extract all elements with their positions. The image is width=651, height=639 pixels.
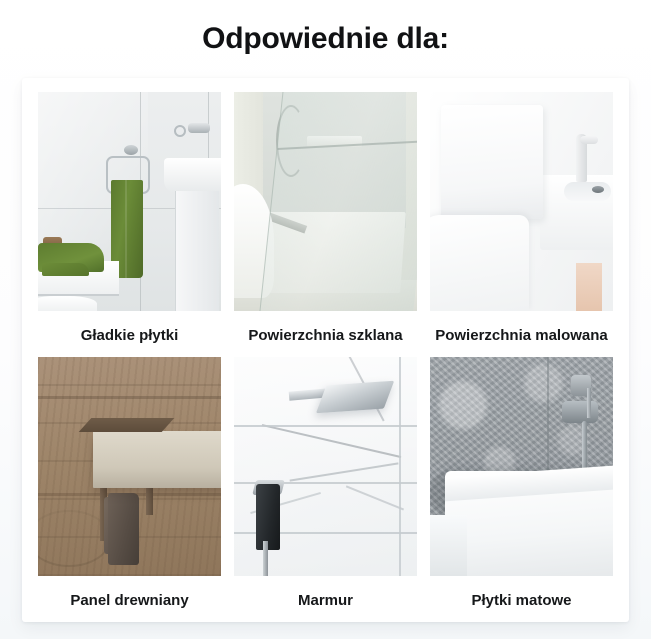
grid-row: Gładkie płytki bbox=[38, 92, 613, 351]
wood-panel-image bbox=[38, 357, 221, 576]
surface-item-wood-panel[interactable]: Panel drewniany bbox=[38, 357, 221, 616]
surface-thumbnail-matte-tiles[interactable] bbox=[430, 357, 613, 576]
surface-item-matte-tiles[interactable]: Płytki matowe bbox=[430, 357, 613, 616]
surfaces-grid: Gładkie płytki bbox=[38, 92, 613, 612]
surface-item-glass-surface[interactable]: Powierzchnia szklana bbox=[234, 92, 417, 351]
glass-surface-image bbox=[234, 92, 417, 311]
surface-thumbnail-painted-surface[interactable] bbox=[430, 92, 613, 311]
surface-item-marble[interactable]: Marmur bbox=[234, 357, 417, 616]
surface-caption: Panel drewniany bbox=[38, 576, 221, 616]
surface-caption: Powierzchnia szklana bbox=[234, 311, 417, 351]
surface-item-painted-surface[interactable]: Powierzchnia malowana bbox=[430, 92, 613, 351]
surface-thumbnail-smooth-tiles[interactable] bbox=[38, 92, 221, 311]
marble-image bbox=[234, 357, 417, 576]
painted-surface-image bbox=[430, 92, 613, 311]
surface-thumbnail-glass-surface[interactable] bbox=[234, 92, 417, 311]
surface-caption: Płytki matowe bbox=[430, 576, 613, 616]
surface-thumbnail-wood-panel[interactable] bbox=[38, 357, 221, 576]
suitable-surfaces-card: Gładkie płytki bbox=[22, 78, 629, 622]
surface-caption: Gładkie płytki bbox=[38, 311, 221, 351]
surface-caption: Powierzchnia malowana bbox=[430, 311, 613, 351]
smooth-tiles-image bbox=[38, 92, 221, 311]
grid-row: Panel drewniany bbox=[38, 357, 613, 616]
page-title: Odpowiednie dla: bbox=[0, 0, 651, 58]
surface-caption: Marmur bbox=[234, 576, 417, 616]
surface-item-smooth-tiles[interactable]: Gładkie płytki bbox=[38, 92, 221, 351]
surface-thumbnail-marble[interactable] bbox=[234, 357, 417, 576]
matte-tiles-image bbox=[430, 357, 613, 576]
page-root: Odpowiednie dla: bbox=[0, 0, 651, 639]
